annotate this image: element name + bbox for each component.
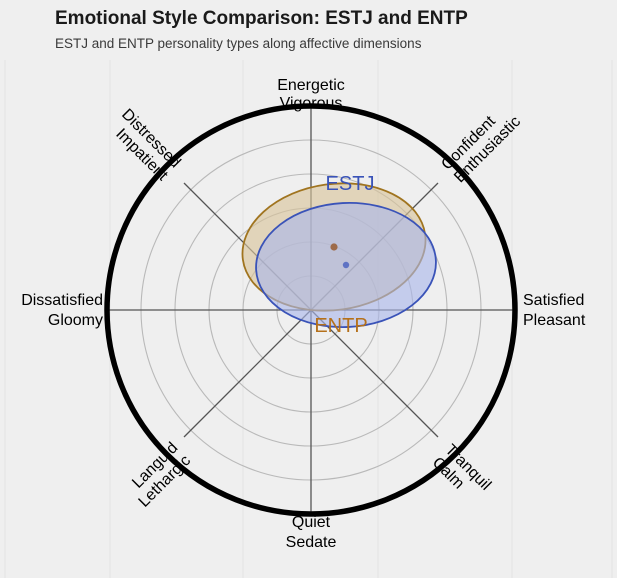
axis-label-line2: Pleasant (523, 312, 586, 329)
axis-label-line2: Sedate (286, 534, 337, 551)
axis-label-energetic-vigorous: Energetic Vigorous (277, 77, 345, 112)
axis-label-line2: Vigorous (280, 95, 343, 112)
chart-subtitle: ESTJ and ENTP personality types along af… (55, 36, 422, 51)
series-center-dot-entp (343, 262, 349, 268)
series-label-estj: ESTJ (326, 173, 375, 195)
circumplex-chart: Emotional Style Comparison: ESTJ and ENT… (0, 0, 617, 578)
chart-title: Emotional Style Comparison: ESTJ and ENT… (55, 8, 468, 29)
chart-page: Emotional Style Comparison: ESTJ and ENT… (0, 0, 617, 578)
axis-label-line1: Energetic (277, 77, 345, 94)
axis-label-line1: Satisfied (523, 292, 584, 309)
axis-label-line2: Gloomy (48, 312, 103, 329)
series-center-dot-estj (330, 243, 337, 250)
axis-label-line1: Dissatisfied (21, 292, 103, 309)
axis-label-line1: Quiet (292, 514, 331, 531)
series-label-entp: ENTP (314, 315, 367, 337)
